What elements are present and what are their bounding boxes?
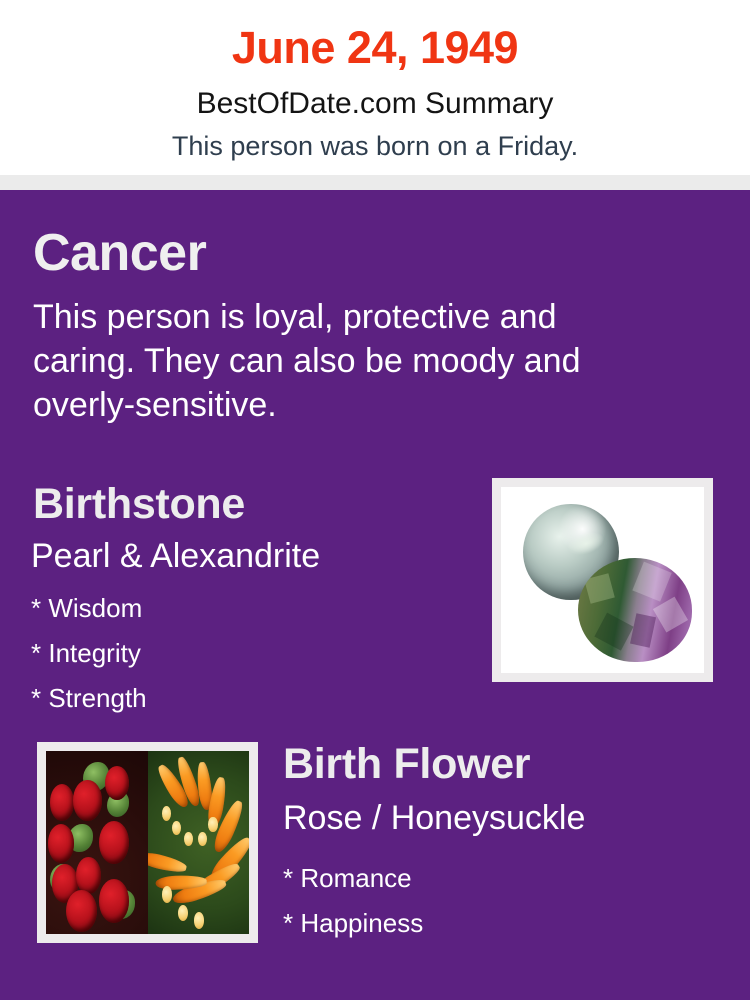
date-summary-card: June 24, 1949 BestOfDate.com Summary Thi… <box>0 0 750 1000</box>
rose-bloom <box>76 857 100 894</box>
gem-facet <box>594 613 633 651</box>
list-item: * Happiness <box>283 901 723 946</box>
gem-facet <box>632 562 671 602</box>
list-item: * Integrity <box>31 631 461 676</box>
birth-flower-trait-list: * Romance * Happiness <box>283 856 723 946</box>
card-header: June 24, 1949 BestOfDate.com Summary Thi… <box>0 0 750 175</box>
gem-facet <box>584 574 615 605</box>
flower-bud <box>184 832 193 847</box>
rose-bloom <box>50 784 74 821</box>
rose-bloom <box>99 821 129 865</box>
birthstone-value: Pearl & Alexandrite <box>31 535 320 577</box>
flower-bud <box>162 806 171 821</box>
list-item: * Strength <box>31 676 461 721</box>
list-item: * Romance <box>283 856 723 901</box>
birthstone-photo <box>501 487 704 673</box>
gem-facet <box>630 613 657 648</box>
rose-bloom <box>48 824 74 862</box>
page-title: June 24, 1949 <box>0 22 750 74</box>
zodiac-sign-name: Cancer <box>33 222 206 284</box>
honeysuckle-tube <box>148 850 188 875</box>
list-item: * Wisdom <box>31 586 461 631</box>
site-summary-label: BestOfDate.com Summary <box>0 86 750 122</box>
flower-bud <box>172 821 181 836</box>
birth-flower-photo-frame <box>37 742 258 943</box>
rose-photo-half <box>46 751 148 934</box>
birthstone-heading: Birthstone <box>33 478 245 530</box>
gem-facet <box>653 597 688 633</box>
flower-bud <box>208 817 217 832</box>
birth-flower-heading: Birth Flower <box>283 738 530 790</box>
birthstone-photo-frame <box>492 478 713 682</box>
rose-bloom <box>99 879 129 923</box>
birth-flower-value: Rose / Honeysuckle <box>283 797 585 839</box>
header-divider <box>0 175 750 190</box>
flower-bud <box>178 905 188 921</box>
rose-bloom <box>66 890 96 932</box>
flower-bud <box>194 912 204 928</box>
rose-bloom <box>73 780 101 820</box>
birth-flower-photo <box>46 751 249 934</box>
zodiac-description: This person is loyal, protective and car… <box>33 295 643 427</box>
birthstone-trait-list: * Wisdom * Integrity * Strength <box>31 586 461 721</box>
alexandrite-gem-icon <box>578 558 692 662</box>
born-day-text: This person was born on a Friday. <box>0 130 750 163</box>
flower-bud <box>162 886 172 902</box>
flower-bud <box>198 832 207 847</box>
honeysuckle-photo-half <box>148 751 250 934</box>
